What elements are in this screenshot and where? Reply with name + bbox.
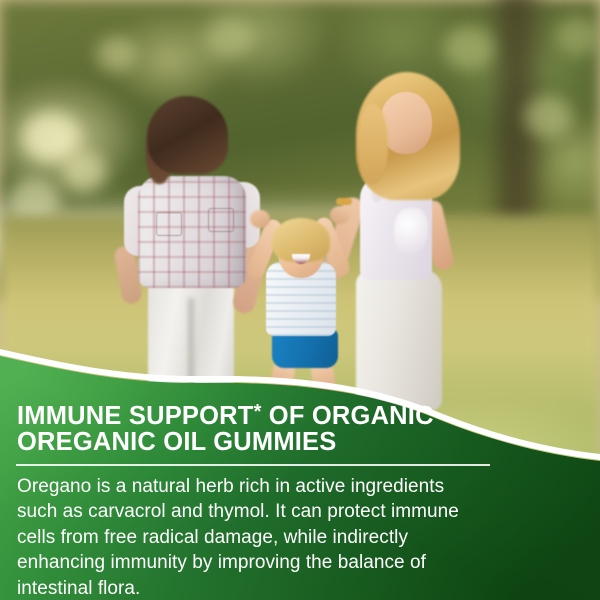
headline-line2: OREGANIC OIL GUMMIES bbox=[17, 428, 336, 456]
body-paragraph: Oregano is a natural herb rich in active… bbox=[17, 474, 489, 600]
promo-banner: IMMUNE SUPPORT* OF ORGANICOREGANIC OIL G… bbox=[0, 0, 600, 600]
panel-content: IMMUNE SUPPORT* OF ORGANICOREGANIC OIL G… bbox=[0, 0, 600, 600]
headline-line1-main: IMMUNE SUPPORT bbox=[17, 402, 254, 430]
headline-asterisk: * bbox=[254, 401, 262, 423]
page-title: IMMUNE SUPPORT* OF ORGANICOREGANIC OIL G… bbox=[17, 403, 537, 455]
title-divider bbox=[16, 464, 490, 466]
headline-line1-tail: OF ORGANIC bbox=[262, 402, 434, 430]
